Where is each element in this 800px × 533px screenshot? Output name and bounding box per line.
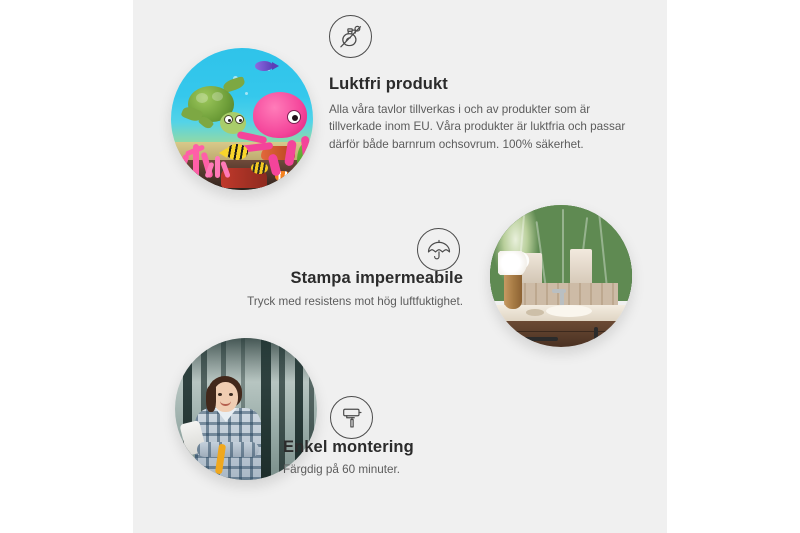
feature-image-underwater-kids-scene [171, 48, 313, 190]
feature-block-odour-free: Luktfri produkt Alla våra tavlor tillver… [329, 74, 629, 153]
purple-fish-icon [255, 61, 273, 71]
yellow-fish-icon [226, 144, 248, 160]
feature-block-waterproof-print: Stampa impermeabile Tryck med resistens … [153, 268, 463, 310]
feature-description: Färgdig på 60 minuter. [283, 461, 553, 479]
forest-canopy [175, 338, 317, 382]
vase [504, 269, 522, 309]
hair-side [206, 386, 216, 412]
soap-dish [526, 309, 544, 316]
feature-image-bathroom-leaf-wallpaper [490, 205, 632, 347]
drawer-handle [524, 337, 558, 341]
eye [229, 393, 233, 396]
face [213, 382, 238, 412]
umbrella-icon [417, 228, 460, 271]
folded-arms [197, 442, 259, 457]
no-perfume-icon [329, 15, 372, 58]
coral-pink-small [205, 154, 231, 180]
feature-description: Tryck med resistens mot hög luftfuktighe… [153, 293, 463, 311]
eye [218, 393, 222, 396]
feature-block-easy-assembly: Enkel montering Färgdig på 60 minuter. [283, 437, 553, 478]
feature-title: Enkel montering [283, 437, 553, 458]
wooden-vanity [490, 321, 632, 347]
feature-description: Alla våra tavlor tillverkas i och av pro… [329, 101, 629, 154]
paint-roller-icon [330, 396, 373, 439]
yellow-fish-icon [251, 162, 268, 174]
bubble-icon [245, 92, 248, 95]
sink-basin [546, 305, 592, 317]
feature-title: Luktfri produkt [329, 74, 629, 95]
feature-title: Stampa impermeabile [153, 268, 463, 289]
cabinet-handle [594, 327, 598, 347]
screenshot-root: Luktfri produkt Alla våra tavlor tillver… [0, 0, 800, 533]
leaf-vein [562, 209, 564, 289]
white-flowers [498, 251, 530, 275]
turtle-eye [224, 115, 233, 124]
octopus-eye [287, 110, 301, 124]
feature-panel: Luktfri produkt Alla våra tavlor tillver… [133, 0, 667, 533]
turtle-eye [235, 115, 244, 124]
